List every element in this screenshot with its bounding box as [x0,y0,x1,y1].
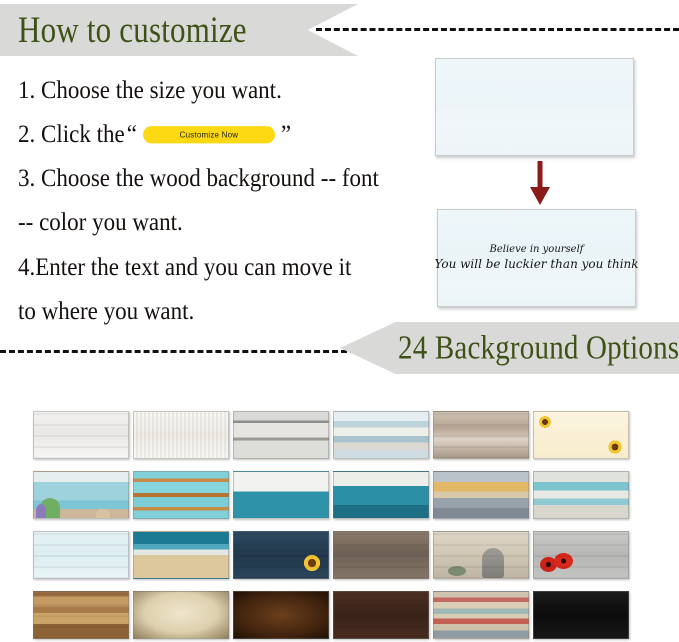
thumbnail-dark-brown-wood[interactable] [333,591,429,639]
thumbnail-teal-orange-distressed-wood[interactable] [133,471,229,519]
sunflower-icon [537,414,553,430]
thumbnail-navy-wood-sunflower[interactable] [233,531,329,579]
blank-wood-sign-preview [435,58,634,156]
step-1: 1. Choose the size you want. [18,66,410,115]
page-title: How to customize [18,9,247,51]
step-4-line-2: to where you want. [18,287,410,336]
thumbnail-multicolor-pastel-planks[interactable] [433,591,529,639]
step-3-line-2: -- color you want. [18,198,410,247]
thumbnail-teal-splash-white[interactable] [233,471,329,519]
how-to-customize-banner: How to customize [0,4,358,56]
thumbnail-teal-ocean-splash[interactable] [333,471,429,519]
background-options-banner: 24 Background Options [340,322,679,374]
thumbnail-golden-sunset-seascape[interactable] [433,471,529,519]
thumbnail-brown-weathered-wood[interactable] [333,531,429,579]
thumbnail-gray-black-distressed-wood[interactable] [233,411,329,459]
down-arrow-icon [529,161,551,205]
dashed-divider-top [316,28,679,31]
sunflower-icon [606,438,624,456]
thumbnail-dark-brown-grain[interactable] [233,591,329,639]
customized-wood-sign-preview: Believe in yourself You will be luckier … [437,209,636,307]
step-4-line-1: 4.Enter the text and you can move it [18,243,410,292]
preview-quote-line-1: Believe in yourself [490,244,584,257]
thumbnail-blue-gray-plank-wood[interactable] [333,411,429,459]
thumbnail-light-white-wood[interactable] [133,411,229,459]
background-options-grid [33,411,633,639]
step-2-prefix: 2. Click the [18,110,125,159]
coral-icon [36,504,46,518]
dashed-divider-bottom [0,350,356,353]
step-2-close-quote: ” [281,110,291,159]
thumbnail-brown-rustic-wood[interactable] [433,411,529,459]
shell-icon [96,509,110,518]
step-2-open-quote: “ [127,110,137,159]
background-options-title: 24 Background Options [398,329,679,368]
thumbnail-warm-brown-plank[interactable] [33,591,129,639]
customize-now-button[interactable]: Customize Now [143,126,275,143]
buddha-statue-icon [482,548,504,578]
step-3-line-1: 3. Choose the wood background -- font [18,154,410,203]
thumbnail-cream-sunflower[interactable] [533,411,629,459]
thumbnail-cream-parchment[interactable] [133,591,229,639]
preview-quote-line-2: You will be luckier than you think [434,257,638,272]
thumbnail-teal-white-plank[interactable] [533,471,629,519]
thumbnail-beach-wave-sand[interactable] [133,531,229,579]
thumbnail-coral-reef-underwater[interactable] [33,471,129,519]
step-2: 2. Click the “ Customize Now ” [18,110,410,159]
stone-icon [448,566,466,576]
thumbnail-zen-buddha-stone[interactable] [433,531,529,579]
thumbnail-gray-wood-red-poppies[interactable] [533,531,629,579]
thumbnail-white-washed-wood[interactable] [33,411,129,459]
thumbnail-black-wood[interactable] [533,591,629,639]
poppy-icon [554,553,573,569]
thumbnail-pale-blue-wood[interactable] [33,531,129,579]
sunflower-icon [301,552,323,574]
instruction-steps: 1. Choose the size you want. 2. Click th… [18,66,410,331]
